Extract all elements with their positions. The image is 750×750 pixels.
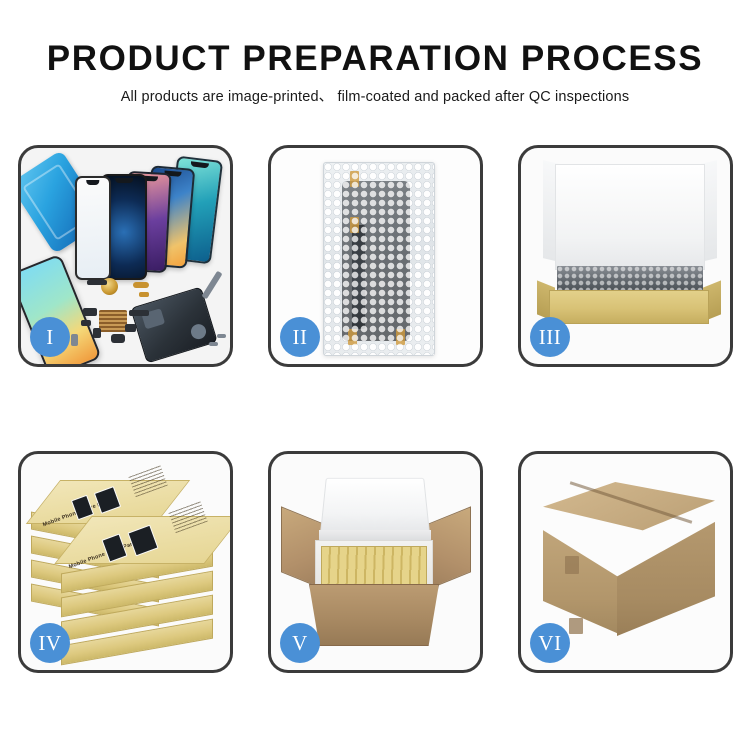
- carton-right-face-icon: [617, 512, 715, 636]
- part-button-icon: [111, 334, 125, 343]
- kraft-box-front-icon: [549, 290, 709, 324]
- foam-lid-icon: [555, 164, 705, 270]
- part-ribbon-icon: [129, 310, 149, 316]
- step-badge-4: IV: [30, 623, 70, 663]
- carton-front-icon: [309, 584, 439, 646]
- process-step-2: II: [268, 145, 483, 367]
- process-step-4: Mobile Phone Spare Parts Mobile Phone Sp…: [18, 451, 233, 673]
- tweezers-icon: [202, 271, 223, 300]
- tape-tab-icon: [350, 217, 359, 233]
- step-badge-3: III: [530, 317, 570, 357]
- flex-connector-icon: [139, 292, 149, 297]
- tape-tab-icon: [396, 329, 405, 345]
- process-step-1: I: [18, 145, 233, 367]
- page-title: PRODUCT PREPARATION PROCESS: [0, 38, 750, 80]
- process-step-grid: I II: [18, 145, 733, 673]
- screen-protector-icon: [75, 176, 111, 280]
- process-step-6: VI: [518, 451, 733, 673]
- step-badge-5: V: [280, 623, 320, 663]
- step-badge-1: I: [30, 317, 70, 357]
- bubble-wrap-bag-icon: [323, 162, 435, 356]
- page-header: PRODUCT PREPARATION PROCESS All products…: [0, 38, 750, 107]
- tape-tab-icon: [348, 329, 357, 345]
- step-badge-2: II: [280, 317, 320, 357]
- bubble-wrapped-contents-icon: [557, 266, 703, 292]
- process-step-3: III: [518, 145, 733, 367]
- chip-array-icon: [99, 310, 127, 332]
- step-badge-6: VI: [530, 623, 570, 663]
- part-sim-tray-icon: [71, 334, 78, 346]
- process-step-5: V: [268, 451, 483, 673]
- screw-icon: [217, 334, 226, 338]
- yellow-boxes-stack-icon: [321, 546, 427, 586]
- part-camera-icon: [125, 324, 136, 332]
- carton-tape-icon: [569, 618, 583, 634]
- page-subtitle: All products are image-printed、 film-coa…: [0, 87, 750, 107]
- carton-tape-icon: [565, 556, 579, 574]
- carton-top-icon: [543, 482, 715, 544]
- tape-tab-icon: [350, 171, 359, 187]
- part-bracket-icon: [93, 328, 101, 338]
- screw-icon: [209, 342, 218, 346]
- part-strip-icon: [87, 280, 107, 285]
- part-small-icon: [81, 320, 91, 326]
- product-preparation-page: PRODUCT PREPARATION PROCESS All products…: [0, 0, 750, 750]
- part-chip-icon: [83, 308, 97, 316]
- flex-cable-icon: [133, 282, 149, 288]
- flex-cable-icon: [352, 225, 365, 329]
- carton-left-face-icon: [543, 516, 619, 634]
- foam-lid-icon: [320, 478, 430, 536]
